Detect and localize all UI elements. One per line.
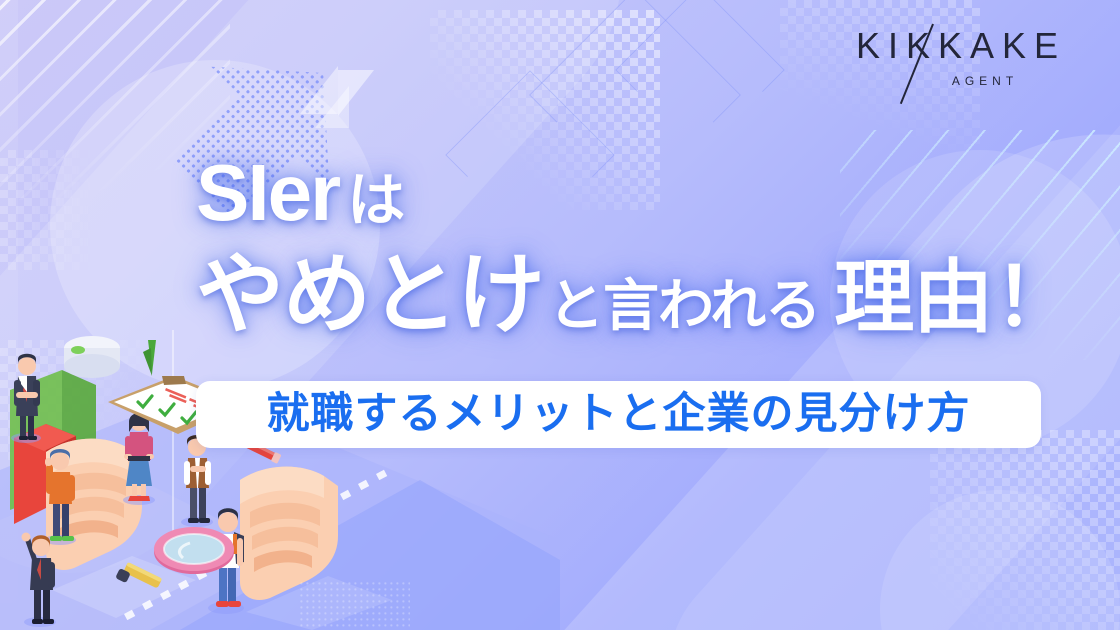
headline-exclamation: ！ [994, 253, 1073, 342]
logo-wordmark: KIKKAKE [836, 28, 1086, 64]
isometric-illustration [0, 330, 560, 630]
headline-particle: は [347, 168, 404, 233]
headline-latin-term: SIer [196, 148, 339, 237]
headline-line-1: SIerは [196, 152, 1076, 234]
checker-pattern-bottom-right [930, 430, 1120, 630]
headline-line-2: やめとけと言われる理由！ [196, 250, 1076, 340]
headline-emphasis: やめとけ [196, 245, 544, 344]
logo-subtext: AGENT [836, 74, 1086, 88]
headline-connector: と言われる [548, 274, 820, 337]
brand-logo[interactable]: KIKKAKE AGENT [836, 28, 1086, 120]
subtitle-text: 就職するメリットと企業の見分け方 [267, 393, 971, 436]
subtitle-banner: 就職するメリットと企業の見分け方 [196, 381, 1041, 448]
triangle-shape-3 [338, 70, 374, 116]
headline-reason-kanji: 理由 [834, 253, 992, 342]
banner-canvas: KIKKAKE AGENT SIerは やめとけと言われる理由！ 就職するメリッ… [0, 0, 1120, 630]
headline: SIerは やめとけと言われる理由！ [196, 152, 1076, 339]
